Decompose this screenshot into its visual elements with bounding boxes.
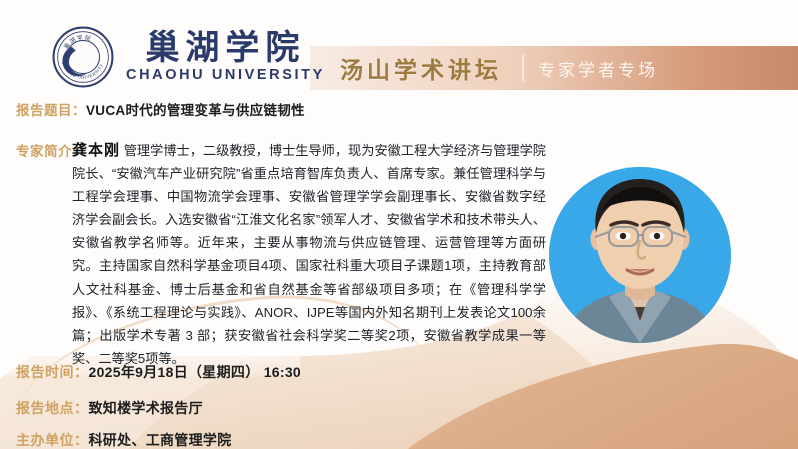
university-name-en: CHAOHU UNIVERSITY [126,67,325,83]
chaohu-university-seal-icon: 巢 湖 学 院 CHAOHU UNIVERSITY [52,26,114,88]
report-title-value: VUCA时代的管理变革与供应链韧性 [86,99,305,119]
seminar-poster: 汤山学术讲坛 专家学者专场 巢 湖 学 院 CHAOHU UNIVERSITY [0,0,798,449]
banner-divider [522,55,524,81]
report-place-label: 报告地点： [16,398,89,418]
report-host-value: 科研处、工商管理学院 [89,430,232,449]
speaker-bio-text: 管理学博士，二级教授，博士生导师，现为安徽工程大学经济与管理学院院长、“安徽汽车… [72,143,546,366]
report-time-label: 报告时间： [16,362,89,382]
speaker-name: 龚本刚 [72,142,120,159]
university-brand: 巢 湖 学 院 CHAOHU UNIVERSITY 巢湖学院 CHAOHU UN… [52,26,325,88]
brand-names: 巢湖学院 CHAOHU UNIVERSITY [126,31,325,84]
banner-subtitle: 专家学者专场 [538,56,658,81]
report-place-value: 致知楼学术报告厅 [89,398,203,418]
speaker-biography: 龚本刚 管理学博士，二级教授，博士生导师，现为安徽工程大学经济与管理学院院长、“… [72,139,546,370]
report-host-label: 主办单位： [16,430,89,449]
report-title-label: 报告题目： [16,99,86,119]
banner-main-title: 汤山学术讲坛 [340,51,502,85]
forum-banner: 汤山学术讲坛 专家学者专场 [310,46,798,90]
report-place-row: 报告地点： 致知楼学术报告厅 [16,398,203,418]
university-name-cn: 巢湖学院 [145,31,305,67]
report-title-row: 报告题目： VUCA时代的管理变革与供应链韧性 [16,99,305,119]
report-time-value: 2025年9月18日（星期四） 16:30 [89,362,302,382]
report-host-row: 主办单位： 科研处、工商管理学院 [16,430,232,449]
report-time-row: 报告时间： 2025年9月18日（星期四） 16:30 [16,362,301,382]
avatar [549,167,731,343]
